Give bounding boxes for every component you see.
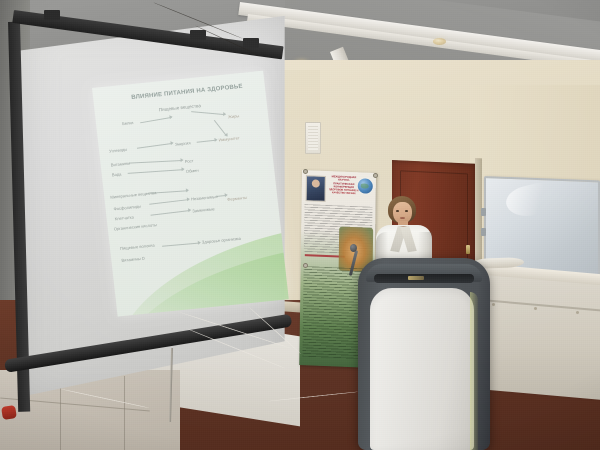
slide-node: Ферменты [227, 195, 247, 202]
slide-node: Фосфолипиды [113, 204, 141, 212]
slide-node: Углеводы [109, 147, 128, 154]
screen-mount-bracket [243, 38, 259, 48]
lectern-indicator-light [408, 276, 424, 280]
slide-connector-arrow [197, 140, 217, 143]
presenter-eye-right [405, 210, 408, 212]
door-handle[interactable] [466, 245, 470, 254]
slide-connector-arrow [129, 160, 183, 163]
slide-node: Обмен [186, 168, 199, 174]
poster-header-line-2: ЗДОРОВОЕ ПИТАНИЕ И КАЧЕСТВО ЖИЗНИ [328, 188, 360, 196]
slide-connector-arrow [140, 117, 172, 123]
slide-connector-arrow [214, 120, 227, 136]
desk-fastener [534, 307, 537, 310]
slide-connector-arrow [128, 169, 184, 173]
lecture-room-photo: ВЛИЯНИЕ ПИТАНИЯ НА ЗДОРОВЬЕ Пищевые веще… [0, 0, 600, 450]
slide-node: Пищевые волокна [120, 242, 155, 250]
presenter-eye-left [396, 210, 399, 212]
desk-fastener [576, 311, 579, 314]
slide-node: Незаменимые [191, 194, 218, 202]
globe-icon [358, 178, 373, 194]
slide-node: Здоровье организма [202, 236, 242, 245]
poster-grommet [303, 263, 308, 268]
lectern-front-panel [370, 288, 474, 450]
slide-node: Вода [112, 171, 122, 177]
slide-node: Энергия [175, 140, 191, 147]
slide-node: Иммунитет [218, 135, 240, 142]
slide-node: Клетчатка [114, 214, 134, 221]
slide-connector-arrow [150, 210, 190, 215]
slide-connector-arrow [137, 143, 173, 149]
slide-node: Минеральные вещества [110, 190, 157, 200]
presenter-mouth [400, 217, 405, 219]
screen-mount-bracket [44, 10, 60, 20]
wall-vent-grille [305, 122, 321, 154]
downlight-icon [433, 38, 446, 45]
slide-node: Витамины D [121, 256, 145, 263]
slide-connector-arrow [149, 199, 189, 204]
projected-slide: ВЛИЯНИЕ ПИТАНИЯ НА ЗДОРОВЬЕ Пищевые веще… [92, 71, 289, 317]
slide-connector-arrow [191, 111, 225, 115]
slide-connector-arrow [162, 243, 200, 247]
slide-node: Белки [122, 120, 134, 126]
poster-grommet [303, 169, 308, 174]
poster-grommet [373, 173, 378, 178]
desk-fastener [492, 303, 495, 306]
whiteboard-mount-bracket [481, 228, 486, 236]
slide-node: Витамины [110, 161, 130, 168]
slide-connector-arrow [217, 195, 227, 197]
poster-portrait-photo [306, 175, 326, 202]
screen-mount-bracket [190, 30, 206, 40]
slide-node: Рост [184, 158, 193, 164]
slide-node: Заменимые [192, 206, 215, 213]
slide-node: Органические кислоты [114, 222, 158, 231]
microphone-icon [350, 244, 357, 252]
projection-screen-endcap [1, 405, 17, 420]
lectern-edge-highlight [470, 292, 478, 450]
lectern-top-recess [374, 274, 474, 283]
whiteboard-mount-bracket [481, 208, 486, 216]
slide-title: ВЛИЯНИЕ ПИТАНИЯ НА ЗДОРОВЬЕ [117, 81, 257, 103]
whiteboard-glare [503, 181, 555, 221]
slide-node: Жиры [228, 113, 240, 119]
